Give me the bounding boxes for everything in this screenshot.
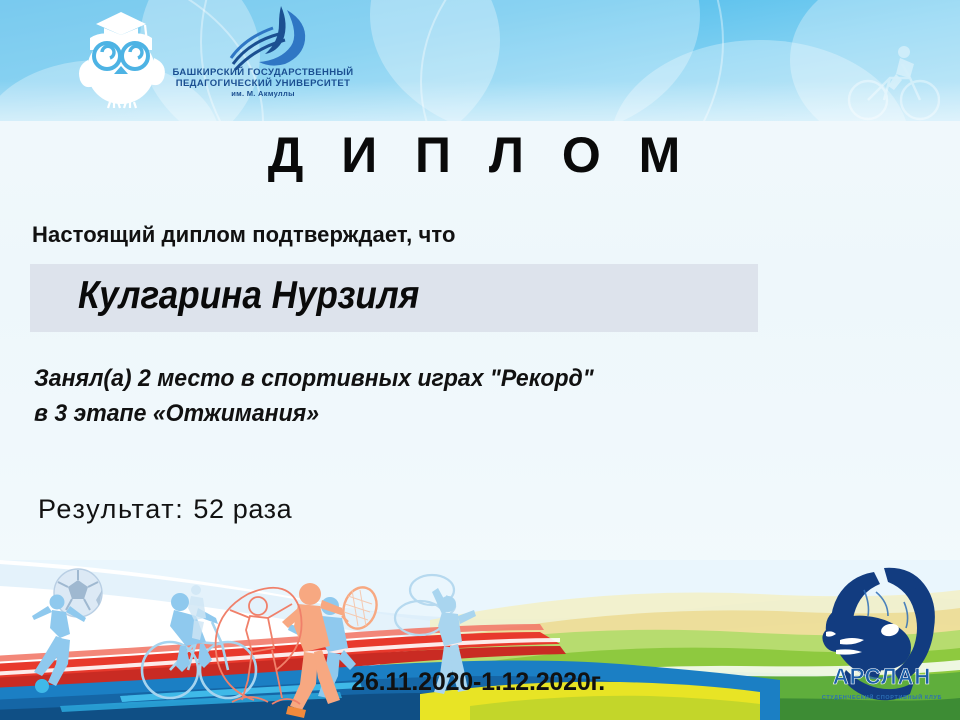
recipient-name: Кулгарина Нурзиля [78,274,690,318]
cyclist-silhouette-icon [844,34,940,121]
subtitle-text: Настоящий диплом подтверждает, что [32,222,456,248]
bspu-wave-mark-icon [225,6,317,70]
header-banner: БАШКИРСКИЙ ГОСУДАРСТВЕННЫЙ ПЕДАГОГИЧЕСКИ… [0,0,960,121]
achievement-text: Занял(а) 2 место в спортивных играх "Рек… [34,362,898,432]
achievement-line-2: в 3 этапе «Отжимания» [34,397,898,432]
owl-graduate-icon [66,4,176,110]
achievement-line-1: Занял(а) 2 место в спортивных играх "Рек… [34,362,898,397]
soccer-ball-icon [54,569,102,617]
result-label: Результат: [38,494,184,524]
university-name: БАШКИРСКИЙ ГОСУДАРСТВЕННЫЙ ПЕДАГОГИЧЕСКИ… [163,68,363,99]
result-value: 52 раза [193,494,292,524]
page-title: Д И П Л О М [0,126,960,184]
result-row: Результат: 52 раза [38,494,292,525]
diploma-certificate: БАШКИРСКИЙ ГОСУДАРСТВЕННЫЙ ПЕДАГОГИЧЕСКИ… [0,0,960,720]
date-range: 26.11.2020-1.12.2020г. [0,668,960,697]
university-line-2: ПЕДАГОГИЧЕСКИЙ УНИВЕРСИТЕТ [163,79,363,90]
university-line-3: им. М. Акмуллы [163,90,363,98]
